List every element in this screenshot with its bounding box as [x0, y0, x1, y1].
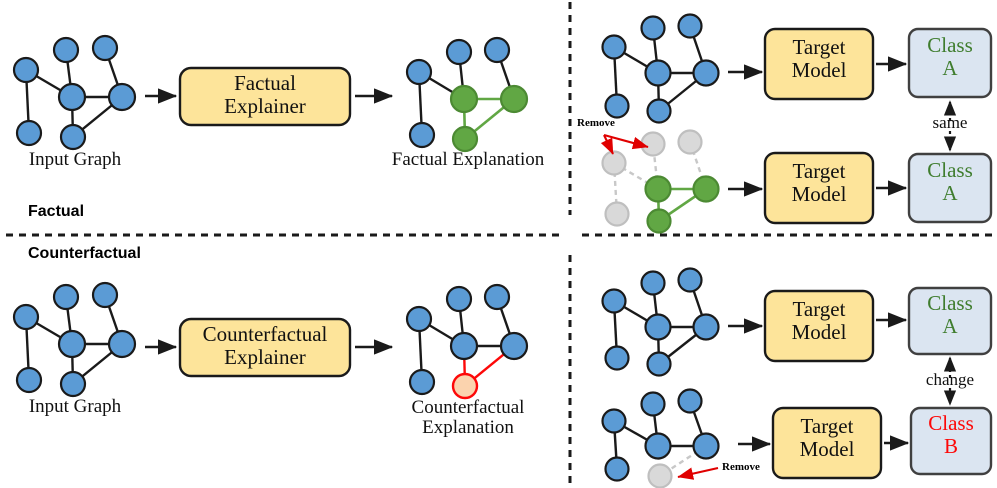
section-title-counterfactual: Counterfactual	[28, 245, 141, 263]
factual-bottom-class-line2: A	[909, 182, 991, 205]
factual-explanation-caption: Factual Explanation	[392, 150, 544, 170]
factual-relation-label: same	[933, 113, 968, 133]
factual-top-target-model-line1: Target	[765, 36, 873, 59]
factual-bottom-class-line1: Class	[909, 159, 991, 182]
counterfactual-bottom-class-label: Class B	[911, 412, 991, 458]
section-title-factual: Factual	[28, 203, 84, 221]
factual-bottom-target-model-label: Target Model	[765, 160, 873, 206]
counterfactual-top-target-model-label: Target Model	[765, 298, 873, 344]
counterfactual-bottom-target-model-label: Target Model	[773, 415, 881, 461]
counterfactual-top-class-line2: A	[909, 315, 991, 338]
factual-explainer-label: Factual Explainer	[180, 72, 350, 118]
counterfactual-bottom-class-line1: Class	[911, 412, 991, 435]
counterfactual-right-top-graph	[603, 269, 719, 376]
counterfactual-top-class-line1: Class	[909, 292, 991, 315]
counterfactual-bottom-class-line2: B	[911, 435, 991, 458]
counterfactual-explanation-caption-line2: Explanation	[373, 418, 563, 438]
factual-top-class-line1: Class	[909, 34, 991, 57]
factual-top-target-model-line2: Model	[765, 59, 873, 82]
factual-bottom-class-label: Class A	[909, 159, 991, 205]
counterfactual-explainer-label: Counterfactual Explainer	[175, 323, 355, 369]
counterfactual-bottom-target-model-line2: Model	[773, 438, 881, 461]
remove-arrow-counterfactual	[678, 468, 718, 477]
factual-explanation-graph	[407, 38, 527, 151]
factual-top-class-label: Class A	[909, 34, 991, 80]
remove-arrows-factual	[604, 135, 648, 154]
counterfactual-explanation-graph	[407, 285, 527, 398]
factual-input-graph	[14, 36, 135, 149]
factual-explainer-label-line2: Explainer	[180, 95, 350, 118]
factual-bottom-target-model-line1: Target	[765, 160, 873, 183]
counterfactual-removed-node	[453, 374, 477, 398]
counterfactual-explanation-caption-line1: Counterfactual	[373, 398, 563, 418]
counterfactual-explanation-caption: Counterfactual Explanation	[373, 398, 563, 438]
factual-input-graph-caption: Input Graph	[29, 150, 121, 170]
counterfactual-removed-node-right	[649, 465, 672, 488]
counterfactual-input-graph	[14, 283, 135, 396]
factual-top-class-line2: A	[909, 57, 991, 80]
factual-top-target-model-label: Target Model	[765, 36, 873, 82]
factual-explainer-label-line1: Factual	[180, 72, 350, 95]
counterfactual-bottom-target-model-line1: Target	[773, 415, 881, 438]
counterfactual-explainer-label-line1: Counterfactual	[175, 323, 355, 346]
counterfactual-remove-label: Remove	[722, 461, 760, 473]
factual-right-bottom-graph	[603, 131, 719, 233]
counterfactual-top-target-model-line1: Target	[765, 298, 873, 321]
counterfactual-top-class-label: Class A	[909, 292, 991, 338]
counterfactual-explainer-label-line2: Explainer	[175, 346, 355, 369]
factual-right-top-graph	[603, 15, 719, 123]
counterfactual-input-graph-caption: Input Graph	[29, 397, 121, 417]
factual-bottom-target-model-line2: Model	[765, 183, 873, 206]
counterfactual-top-target-model-line2: Model	[765, 321, 873, 344]
figure-canvas: Factual Counterfactual Input Graph Factu…	[0, 0, 997, 488]
factual-remove-label: Remove	[577, 117, 615, 129]
counterfactual-relation-label: change	[926, 370, 974, 390]
